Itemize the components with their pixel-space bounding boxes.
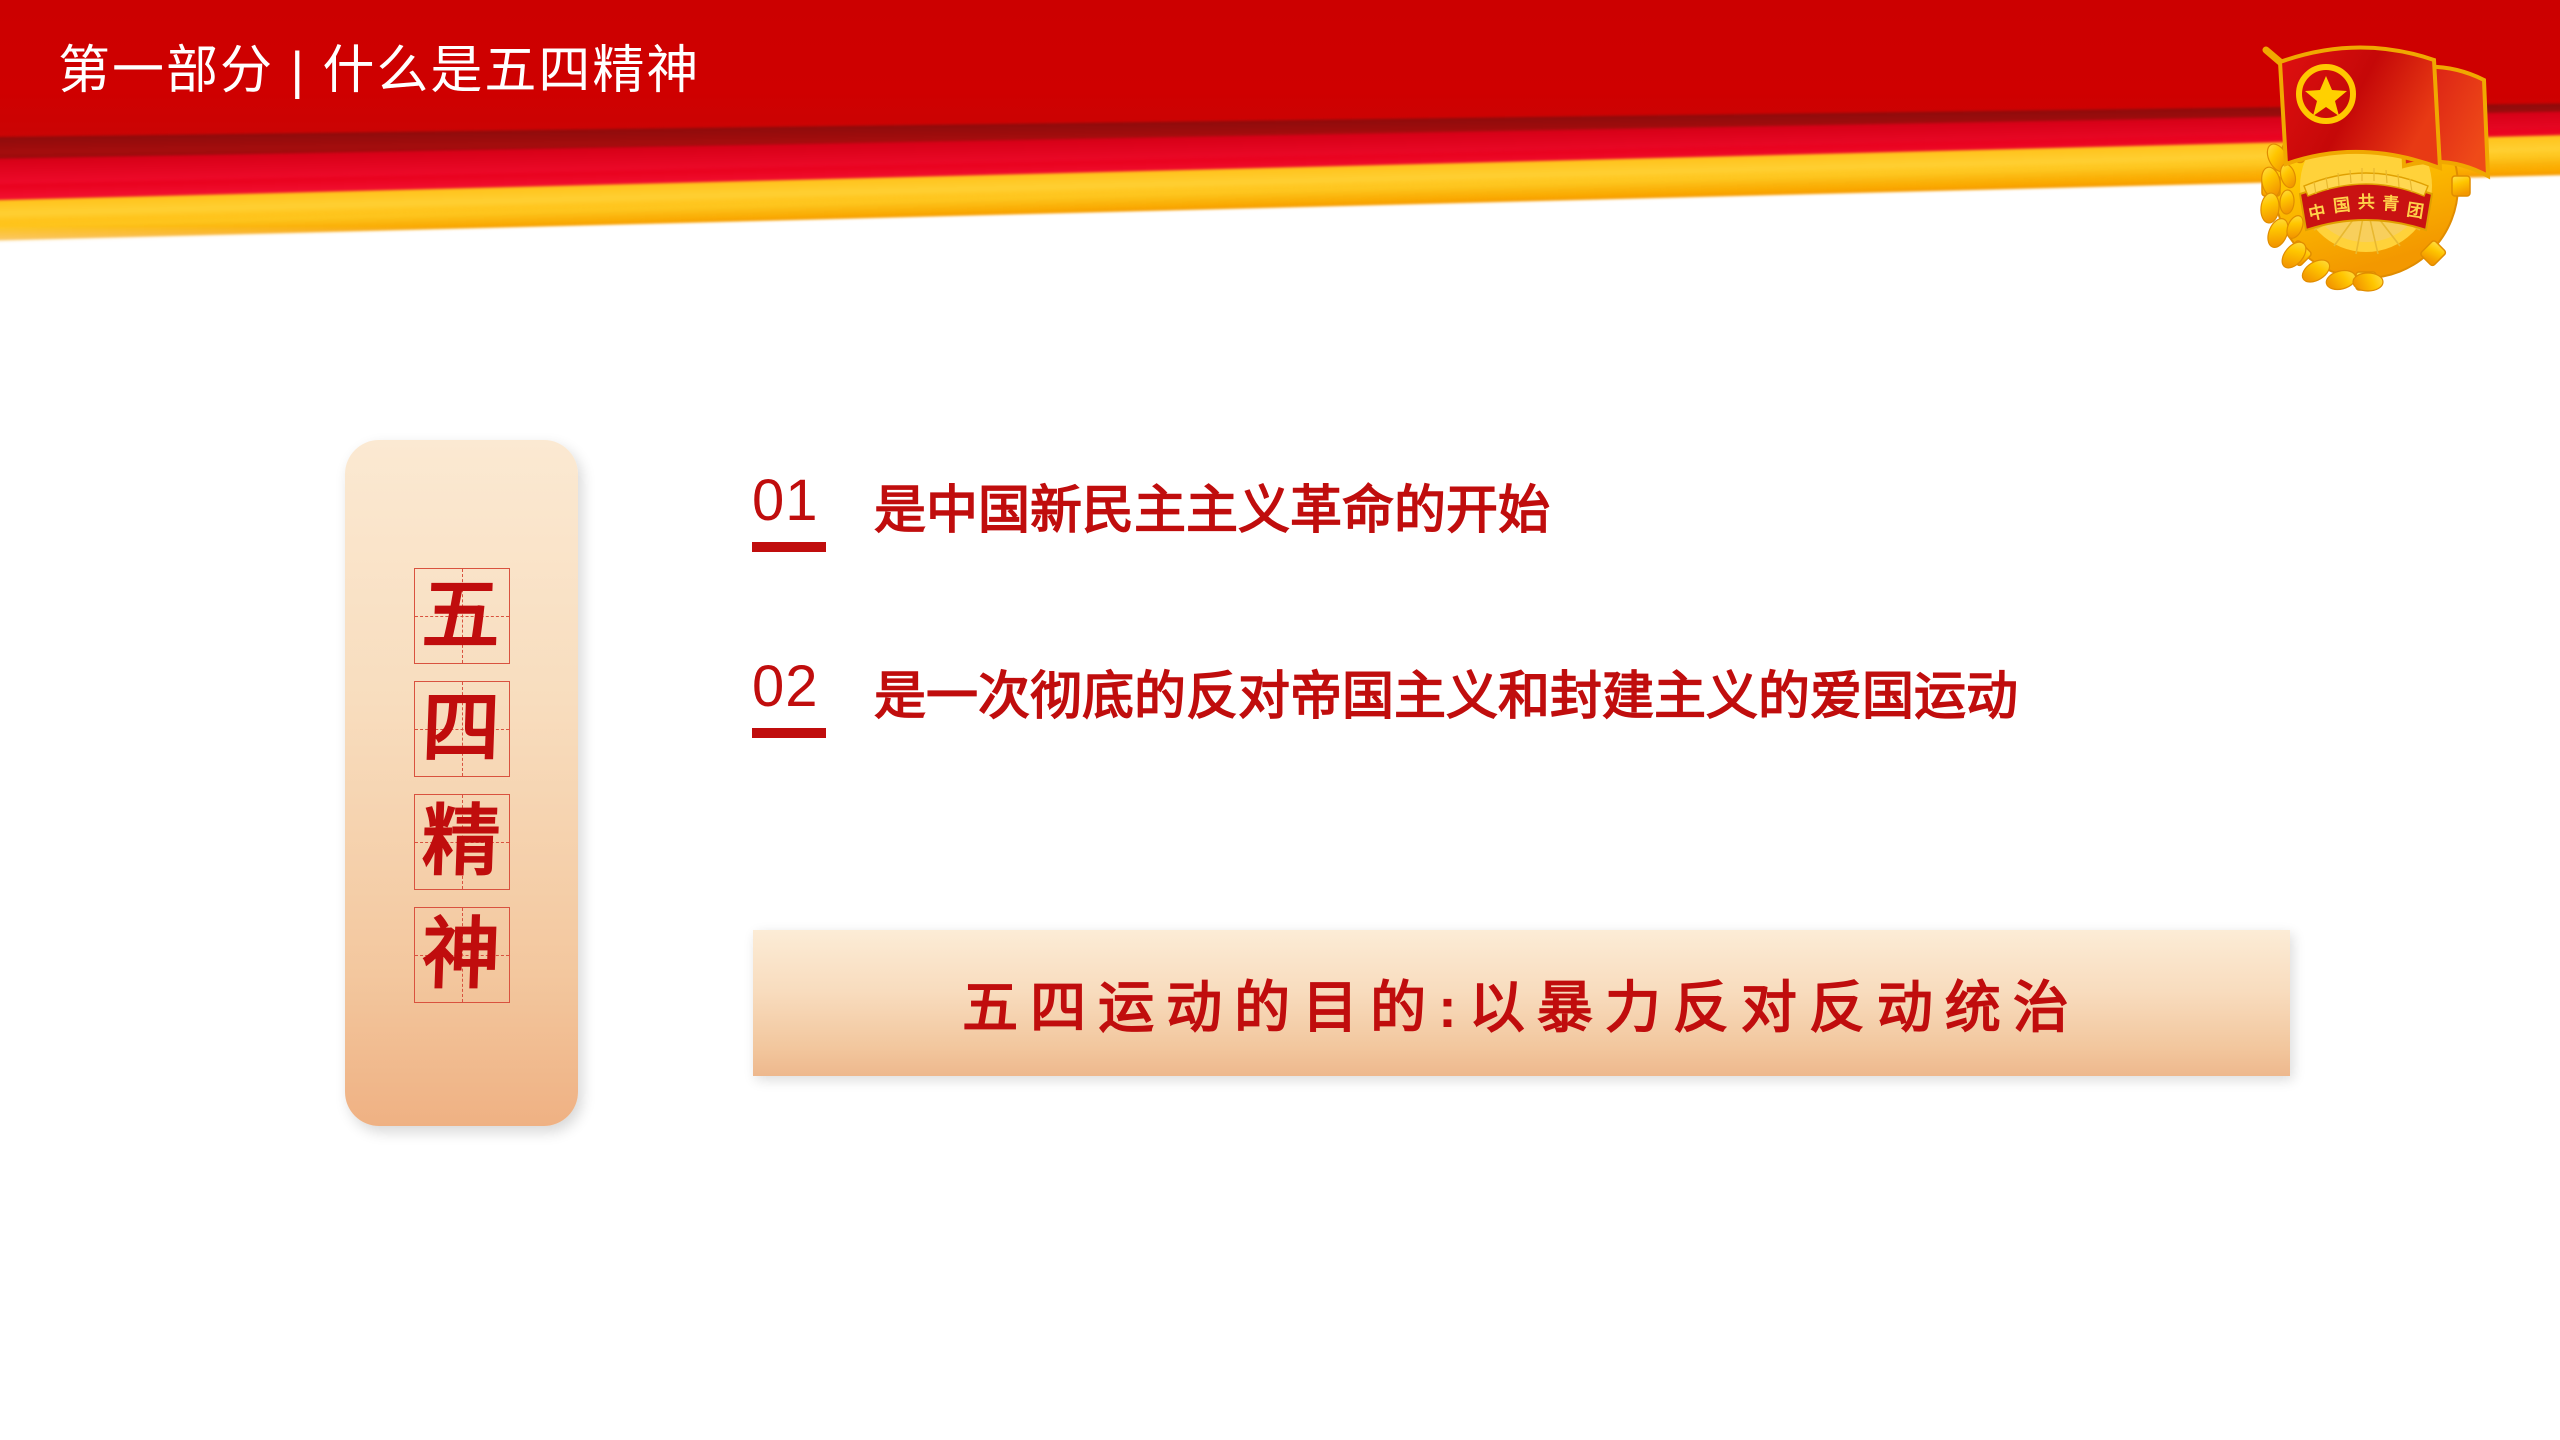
slide-header: 第一部分 | 什么是五四精神 <box>0 0 2560 270</box>
svg-text:共: 共 <box>2357 192 2375 213</box>
highlight-banner-text: 五四运动的目的:以暴力反对反动统治 <box>962 963 2081 1044</box>
character-glyph: 五 <box>421 577 502 655</box>
list-item-number-group: 01 <box>752 470 848 552</box>
character-cell: 神 <box>414 907 510 1003</box>
list-item-text: 是一次彻底的反对帝国主义和封建主义的爱国运动 <box>874 656 2018 728</box>
character-cell: 四 <box>414 681 510 777</box>
list-item-underline <box>752 542 826 552</box>
character-cell: 五 <box>414 568 510 664</box>
ribbon-white-fade <box>0 226 2560 270</box>
list-item-number-group: 02 <box>752 656 848 738</box>
highlight-banner: 五四运动的目的:以暴力反对反动统治 <box>753 930 2290 1076</box>
character-glyph: 神 <box>421 916 502 994</box>
list-item-underline <box>752 728 826 738</box>
list-item: 02 是一次彻底的反对帝国主义和封建主义的爱国运动 <box>752 656 2312 738</box>
page-title: 第一部分 | 什么是五四精神 <box>58 28 700 103</box>
svg-text:国: 国 <box>2332 195 2351 217</box>
character-cell: 精 <box>414 794 510 890</box>
list-item-number: 02 <box>752 658 848 716</box>
svg-text:青: 青 <box>2382 193 2400 215</box>
character-glyph: 精 <box>421 803 502 881</box>
communist-youth-league-emblem-icon: 中 国 共 青 团 <box>2248 26 2512 292</box>
character-glyph: 四 <box>421 690 502 768</box>
list-item-number: 01 <box>752 472 848 530</box>
list-item-text: 是中国新民主主义革命的开始 <box>874 470 1550 542</box>
svg-text:团: 团 <box>2405 200 2425 222</box>
bullet-list: 01 是中国新民主主义革命的开始 02 是一次彻底的反对帝国主义和封建主义的爱国… <box>752 470 2312 842</box>
list-item: 01 是中国新民主主义革命的开始 <box>752 470 2312 552</box>
wusi-spirit-character-card: 五 四 精 神 <box>345 440 578 1126</box>
